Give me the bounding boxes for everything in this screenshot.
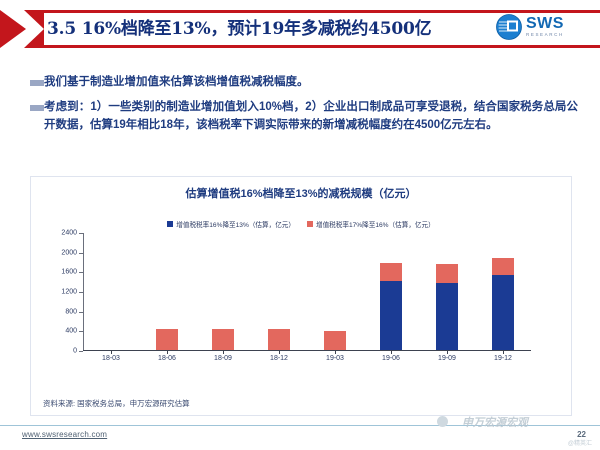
watermark-avatar-icon	[437, 416, 448, 427]
bullet-text: 我们基于制造业增加值来估算该档增值税减税幅度。	[44, 74, 578, 92]
watermark-small-text: @精英汇	[568, 438, 592, 447]
bar-stack-19-09	[436, 264, 458, 350]
bar-stack-19-06	[380, 263, 402, 351]
y-axis-tick	[79, 351, 83, 352]
x-axis-tick-label: 18-12	[270, 355, 288, 362]
list-item: 考虑到：1）一些类别的制造业增加值划入10%档，2）企业出口制成品可享受退税，结…	[30, 99, 578, 135]
list-item: 我们基于制造业增加值来估算该档增值税减税幅度。	[30, 74, 578, 92]
bullet-text: 考虑到：1）一些类别的制造业增加值划入10%档，2）企业出口制成品可享受退税，结…	[44, 99, 578, 135]
x-axis-tick	[167, 351, 168, 354]
legend-swatch-icon	[167, 221, 173, 227]
slide-header: 3.5 16%档降至13%，预计19年多减税约4500亿 SWS RESEARC…	[0, 0, 600, 58]
y-axis-tick	[79, 272, 83, 273]
y-axis-tick-label: 400	[65, 328, 77, 335]
page-title: 3.5 16%档降至13%，预计19年多减税约4500亿	[47, 13, 432, 45]
chart-source-note: 资料来源: 国家税务总局，申万宏源研究估算	[43, 398, 190, 409]
y-axis-tick	[79, 331, 83, 332]
x-axis-tick-label: 18-03	[102, 355, 120, 362]
y-axis-tick-label: 2400	[61, 230, 77, 237]
chart-card: 估算增值税16%档降至13%的减税规模（亿元） 增值税税率16%降至13%（估算…	[30, 176, 572, 416]
x-axis-tick	[335, 351, 336, 354]
chart-plot-area: 0400800120016002000240018-0318-0618-0918…	[83, 233, 531, 351]
y-axis-tick	[79, 253, 83, 254]
bar-segment	[380, 281, 402, 350]
sws-logo-icon	[496, 14, 522, 40]
x-axis-tick	[223, 351, 224, 354]
y-axis-tick-label: 0	[73, 348, 77, 355]
x-axis-tick-label: 19-09	[438, 355, 456, 362]
x-axis-tick	[279, 351, 280, 354]
footer-website-link[interactable]: www.swsresearch.com	[22, 430, 107, 439]
x-axis-tick-label: 19-03	[326, 355, 344, 362]
legend-label: 增值税税率16%降至13%（估算，亿元）	[176, 219, 295, 229]
bar-segment	[212, 329, 234, 350]
bar-segment	[380, 263, 402, 282]
sws-logo-text: SWS RESEARCH	[526, 16, 564, 38]
logo-sub-text: RESEARCH	[526, 33, 564, 38]
y-axis-tick	[79, 312, 83, 313]
bar-stack-18-12	[268, 329, 290, 350]
x-axis-tick	[391, 351, 392, 354]
chevron-left-icon	[0, 10, 26, 48]
y-axis-tick	[79, 292, 83, 293]
bar-segment	[436, 283, 458, 350]
watermark-text: 申万宏源宏观	[462, 414, 528, 430]
legend-swatch-icon	[307, 221, 313, 227]
y-axis-tick-label: 800	[65, 308, 77, 315]
bar-segment	[492, 275, 514, 350]
bar-stack-18-06	[156, 329, 178, 350]
y-axis	[83, 233, 84, 351]
header-rule-bottom	[40, 45, 600, 48]
legend-item-series-1: 增值税税率17%降至16%（估算，亿元）	[307, 219, 435, 229]
y-axis-tick	[79, 233, 83, 234]
chart-title: 估算增值税16%档降至13%的减税规模（亿元）	[31, 185, 571, 201]
bar-segment	[492, 258, 514, 275]
x-axis-tick-label: 18-06	[158, 355, 176, 362]
y-axis-tick-label: 1600	[61, 269, 77, 276]
y-axis-tick-label: 2000	[61, 249, 77, 256]
x-axis-tick	[111, 351, 112, 354]
bullet-square-icon	[30, 80, 44, 86]
legend-label: 增值税税率17%降至16%（估算，亿元）	[316, 219, 435, 229]
chevron-notch-icon	[24, 10, 44, 48]
sws-research-logo: SWS RESEARCH	[496, 12, 592, 42]
x-axis	[83, 350, 531, 351]
legend-item-series-0: 增值税税率16%降至13%（估算，亿元）	[167, 219, 295, 229]
chart-legend: 增值税税率16%降至13%（估算，亿元） 增值税税率17%降至16%（估算，亿元…	[31, 219, 571, 229]
bar-stack-18-09	[212, 329, 234, 350]
bullet-square-icon	[30, 105, 44, 111]
x-axis-tick-label: 19-06	[382, 355, 400, 362]
x-axis-tick-label: 19-12	[494, 355, 512, 362]
bullet-list: 我们基于制造业增加值来估算该档增值税减税幅度。 考虑到：1）一些类别的制造业增加…	[30, 74, 578, 141]
bar-stack-19-12	[492, 258, 514, 350]
bar-stack-19-03	[324, 331, 346, 350]
x-axis-tick-label: 18-09	[214, 355, 232, 362]
x-axis-tick	[503, 351, 504, 354]
y-axis-tick-label: 1200	[61, 289, 77, 296]
x-axis-tick	[447, 351, 448, 354]
bar-segment	[156, 329, 178, 350]
bar-segment	[324, 331, 346, 350]
bar-segment	[268, 329, 290, 350]
bar-segment	[436, 264, 458, 282]
logo-main-text: SWS	[526, 16, 564, 32]
